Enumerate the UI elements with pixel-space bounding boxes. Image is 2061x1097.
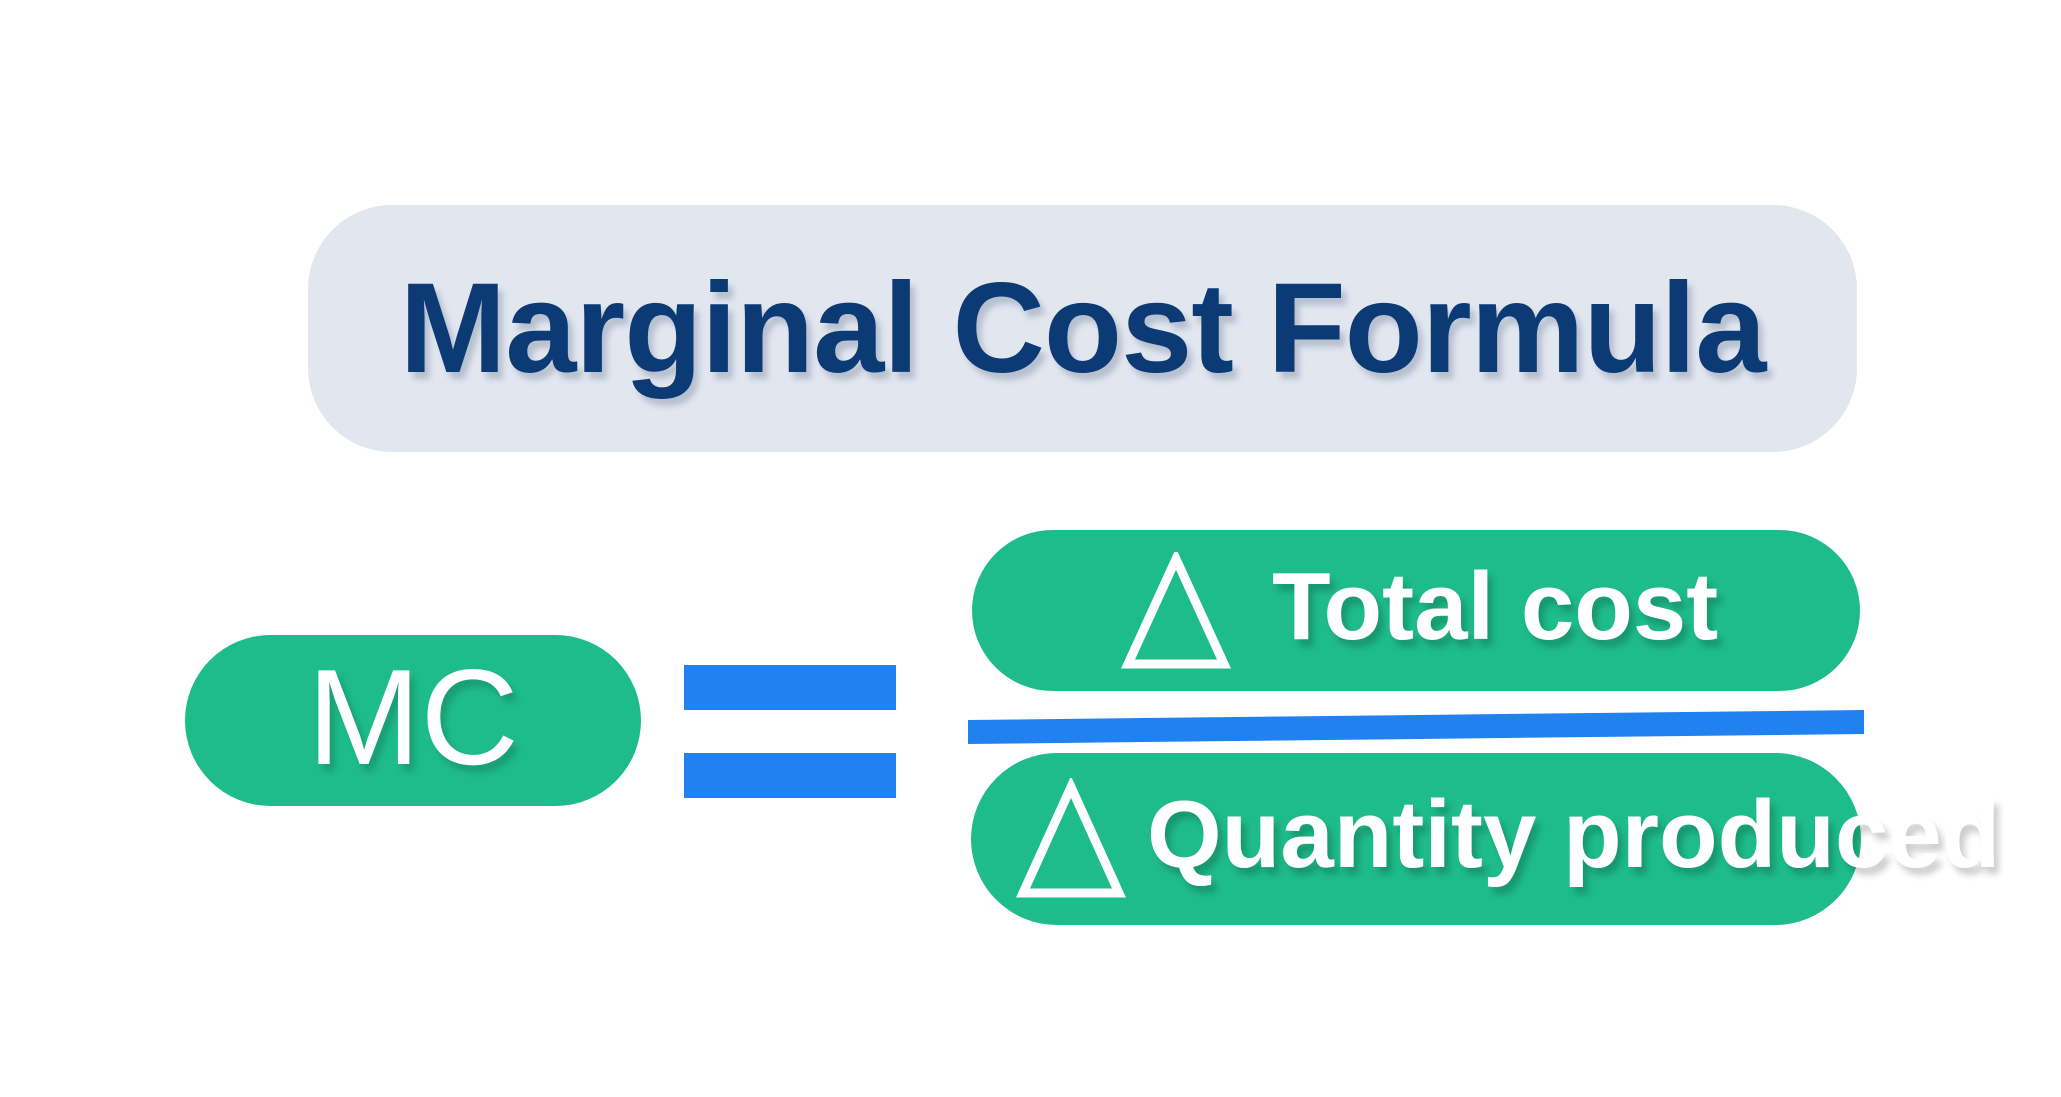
page-title: Marginal Cost Formula (400, 265, 1766, 393)
denominator-pill: Quantity produced (971, 753, 1861, 925)
fraction-division-bar (968, 694, 1864, 734)
numerator-pill: Total cost (972, 530, 1860, 691)
delta-triangle-icon (1120, 552, 1232, 670)
numerator-label: Total cost (1272, 559, 1718, 655)
denominator-label: Quantity produced (1147, 787, 2000, 883)
marginal-cost-abbreviation-label: MC (307, 649, 519, 785)
title-banner: Marginal Cost Formula (308, 205, 1857, 452)
delta-triangle-icon (1015, 778, 1127, 900)
equals-sign-icon (684, 665, 896, 798)
equals-sign-lower-bar (684, 753, 896, 798)
equals-sign-upper-bar (684, 665, 896, 710)
infographic-canvas: Marginal Cost Formula MC Total cost Quan… (0, 0, 2061, 1097)
marginal-cost-term-pill: MC (185, 635, 641, 806)
